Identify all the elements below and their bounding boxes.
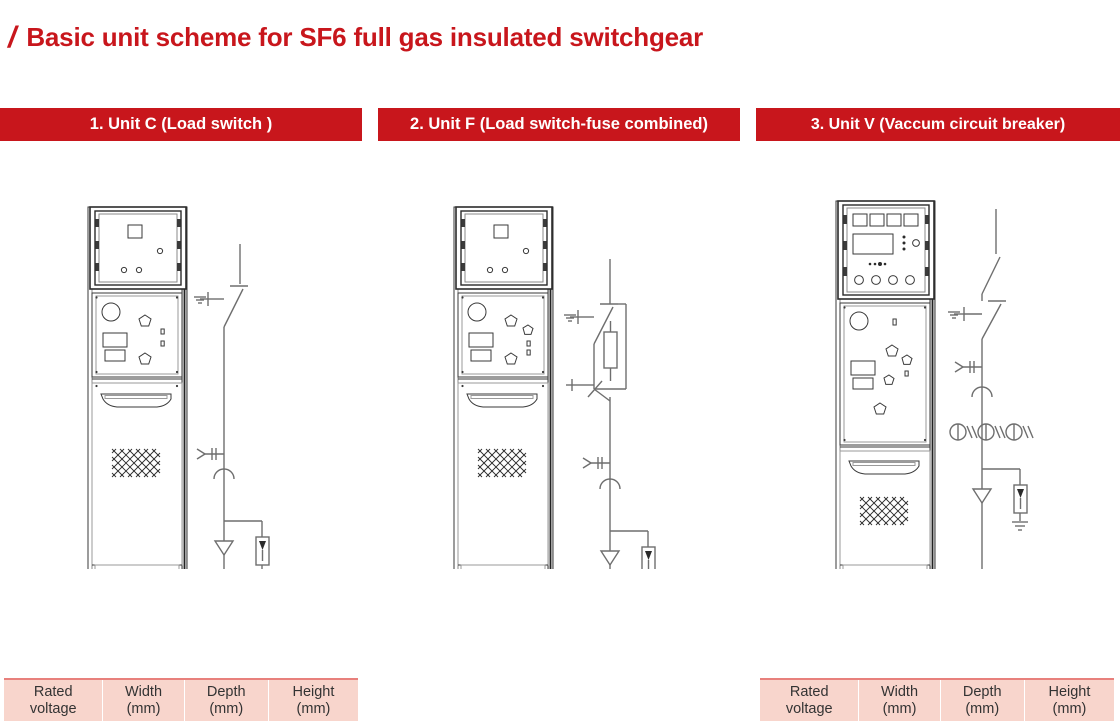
col-header-depth: Depth(mm) bbox=[940, 679, 1024, 721]
diagram-area-unit-v bbox=[756, 149, 1120, 569]
cabinet-load-switch-fuse bbox=[454, 207, 553, 569]
cabinet-vacuum-circuit-breaker bbox=[836, 201, 935, 569]
section-header-unit-f: 2. Unit F (Load switch-fuse combined) bbox=[378, 108, 740, 141]
cabinet-load-switch bbox=[88, 207, 187, 569]
schematic-load-switch bbox=[194, 244, 270, 569]
schematic-vacuum-circuit-breaker bbox=[948, 209, 1033, 569]
unit-column-c: 1. Unit C (Load switch ) bbox=[0, 108, 362, 569]
diagram-area-unit-c bbox=[0, 149, 362, 569]
section-header-unit-v: 3. Unit V (Vaccum circuit breaker) bbox=[756, 108, 1120, 141]
unit-column-v: 3. Unit V (Vaccum circuit breaker) bbox=[756, 108, 1120, 569]
title-slash-accent: / bbox=[8, 23, 16, 53]
table-header-row: Ratedvoltage Width(mm) Depth(mm) Height(… bbox=[4, 679, 358, 721]
page-title: / Basic unit scheme for SF6 full gas ins… bbox=[0, 22, 703, 53]
diagram-area-unit-f bbox=[378, 149, 740, 569]
col-header-height: Height(mm) bbox=[268, 679, 358, 721]
page-root: / Basic unit scheme for SF6 full gas ins… bbox=[0, 0, 1120, 721]
title-text: Basic unit scheme for SF6 full gas insul… bbox=[26, 22, 703, 53]
col-header-height: Height(mm) bbox=[1024, 679, 1114, 721]
spec-table-unit-f: Ratedvoltage Width(mm) Depth(mm) Height(… bbox=[760, 678, 1114, 721]
col-header-depth: Depth(mm) bbox=[184, 679, 268, 721]
col-header-width: Width(mm) bbox=[103, 679, 184, 721]
table-header-row: Ratedvoltage Width(mm) Depth(mm) Height(… bbox=[760, 679, 1114, 721]
section-header-unit-c: 1. Unit C (Load switch ) bbox=[0, 108, 362, 141]
schematic-load-switch-fuse bbox=[564, 259, 656, 569]
spec-table-unit-c: Ratedvoltage Width(mm) Depth(mm) Height(… bbox=[4, 678, 358, 721]
col-header-rated-voltage: Ratedvoltage bbox=[4, 679, 103, 721]
col-header-width: Width(mm) bbox=[859, 679, 940, 721]
col-header-rated-voltage: Ratedvoltage bbox=[760, 679, 859, 721]
unit-column-f: 2. Unit F (Load switch-fuse combined) bbox=[378, 108, 740, 569]
